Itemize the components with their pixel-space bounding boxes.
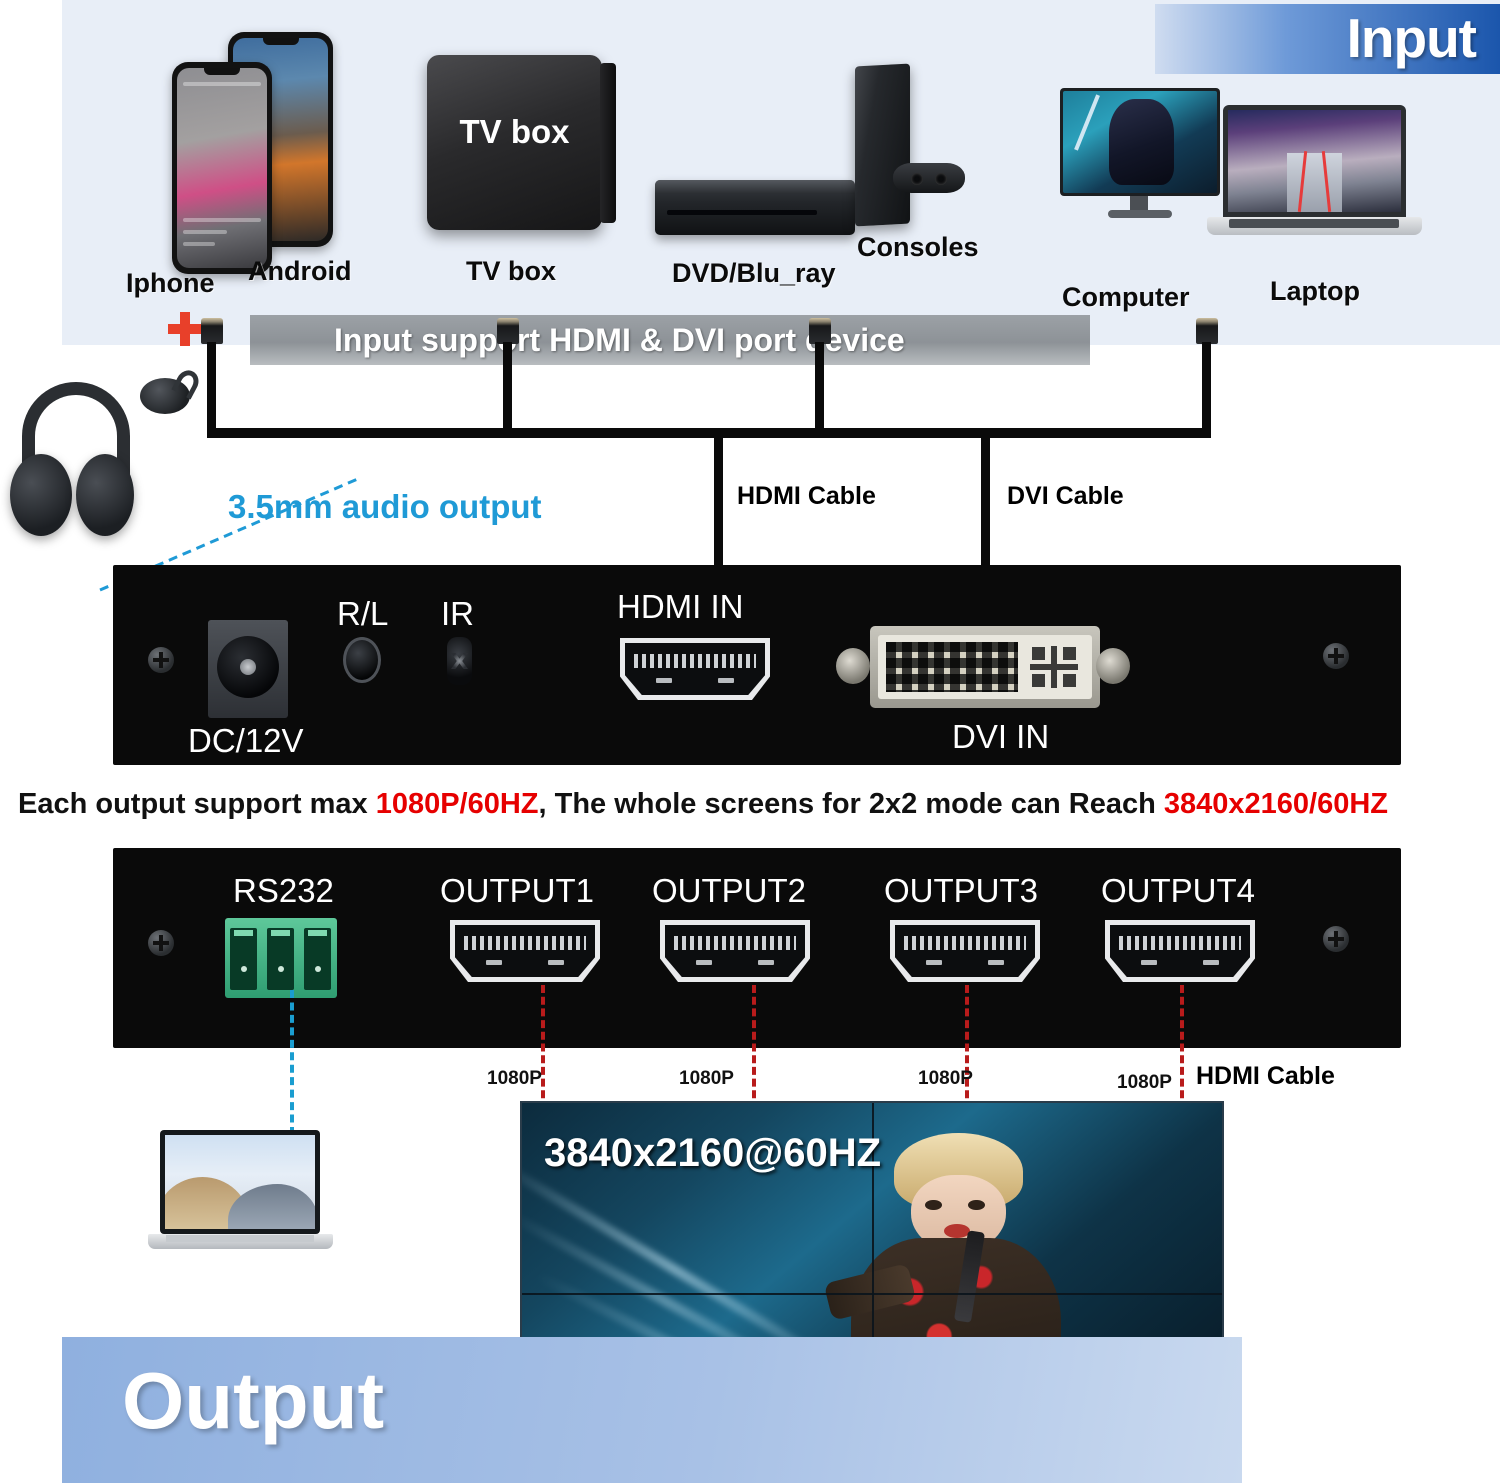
port-label-dc: DC/12V xyxy=(188,722,304,760)
output-banner: Output xyxy=(62,1337,1242,1483)
spec-highlight-1: 1080P/60HZ xyxy=(376,788,539,820)
panel-screw-left-icon xyxy=(148,647,174,673)
audio-rl-jack[interactable] xyxy=(343,637,381,683)
hdmi-in-port[interactable] xyxy=(620,638,770,700)
output2-link-line xyxy=(752,985,756,1110)
output-hdmi-cable-label: HDMI Cable xyxy=(1196,1062,1335,1091)
wireless-dongle-image xyxy=(140,368,200,416)
rs232-terminal-block[interactable] xyxy=(225,918,337,998)
dvd-bluray-image xyxy=(655,180,855,235)
cable-run-4 xyxy=(1202,342,1211,432)
port-label-rl: R/L xyxy=(337,595,388,633)
hdmi-cable-label: HDMI Cable xyxy=(737,482,876,511)
output4-port[interactable] xyxy=(1105,920,1255,982)
hdmi-plug-console-icon xyxy=(809,318,831,344)
spec-part-2: , The whole screens for 2x2 mode can Rea… xyxy=(539,788,1164,820)
label-dvd-bluray: DVD/Blu_ray xyxy=(672,258,836,289)
output1-port[interactable] xyxy=(450,920,600,982)
output-banner-label: Output xyxy=(122,1355,384,1447)
output3-port[interactable] xyxy=(890,920,1040,982)
port-label-output3: OUTPUT3 xyxy=(884,872,1038,910)
port-label-hdmi-in: HDMI IN xyxy=(617,588,744,626)
spec-line: Each output support max 1080P/60HZ, The … xyxy=(18,788,1488,821)
label-tv-box: TV box xyxy=(466,256,556,287)
output-panel-screw-right-icon xyxy=(1323,926,1349,952)
output1-link-line xyxy=(541,985,545,1110)
plus-icon xyxy=(168,312,202,346)
label-computer: Computer xyxy=(1062,282,1190,313)
rs232-link-line xyxy=(290,990,294,1135)
resolution-label-1: 1080P xyxy=(487,1068,542,1090)
ir-receiver[interactable] xyxy=(447,637,472,685)
tv-box-image: TV box xyxy=(427,55,602,230)
spec-part-1: Each output support max xyxy=(18,788,376,820)
iphone-image xyxy=(172,62,272,274)
label-laptop: Laptop xyxy=(1270,276,1360,307)
port-label-output1: OUTPUT1 xyxy=(440,872,594,910)
dvi-in-port[interactable] xyxy=(830,620,1140,715)
port-label-rs232: RS232 xyxy=(233,872,334,910)
video-wall-seam-horizontal xyxy=(522,1293,1222,1295)
laptop-image xyxy=(1207,105,1422,250)
game-console-image xyxy=(855,64,910,227)
gamepad-image xyxy=(893,155,965,200)
dc-power-jack[interactable] xyxy=(208,620,288,718)
output4-link-line xyxy=(1180,985,1184,1110)
output-panel-screw-left-icon xyxy=(148,930,174,956)
hdmi-plug-tvbox-icon xyxy=(497,318,519,344)
computer-monitor-image xyxy=(1060,88,1220,218)
output2-port[interactable] xyxy=(660,920,810,982)
cable-run-1 xyxy=(207,342,216,432)
spec-highlight-2: 3840x2160/60HZ xyxy=(1164,788,1388,820)
dvi-cable-label: DVI Cable xyxy=(1007,482,1124,511)
resolution-label-2: 1080P xyxy=(679,1068,734,1090)
panel-screw-right-icon xyxy=(1323,643,1349,669)
cable-run-3 xyxy=(815,342,824,432)
label-iphone: Iphone xyxy=(126,268,215,299)
cable-run-2 xyxy=(503,342,512,432)
label-android: Android xyxy=(248,256,351,287)
input-support-banner: Input support HDMI & DVI port device xyxy=(250,315,1090,365)
output3-link-line xyxy=(965,985,969,1110)
hdmi-plug-phones-icon xyxy=(201,318,223,344)
hdmi-cable-drop xyxy=(714,436,723,566)
control-laptop-image xyxy=(148,1130,333,1260)
input-banner-label: Input xyxy=(1347,6,1476,70)
dvi-plug-laptop-icon xyxy=(1196,318,1218,344)
port-label-output4: OUTPUT4 xyxy=(1101,872,1255,910)
cable-bus xyxy=(207,428,1211,438)
resolution-label-3: 1080P xyxy=(918,1068,973,1090)
label-consoles: Consoles xyxy=(857,232,979,263)
dvi-cable-drop xyxy=(981,436,990,566)
port-label-ir: IR xyxy=(441,595,474,633)
resolution-label-4: 1080P xyxy=(1117,1072,1172,1094)
tv-box-device-text: TV box xyxy=(427,113,602,151)
input-banner: Input xyxy=(1155,4,1500,74)
port-label-dvi-in: DVI IN xyxy=(952,718,1049,756)
port-label-output2: OUTPUT2 xyxy=(652,872,806,910)
video-wall-resolution-label: 3840x2160@60HZ xyxy=(544,1131,881,1176)
